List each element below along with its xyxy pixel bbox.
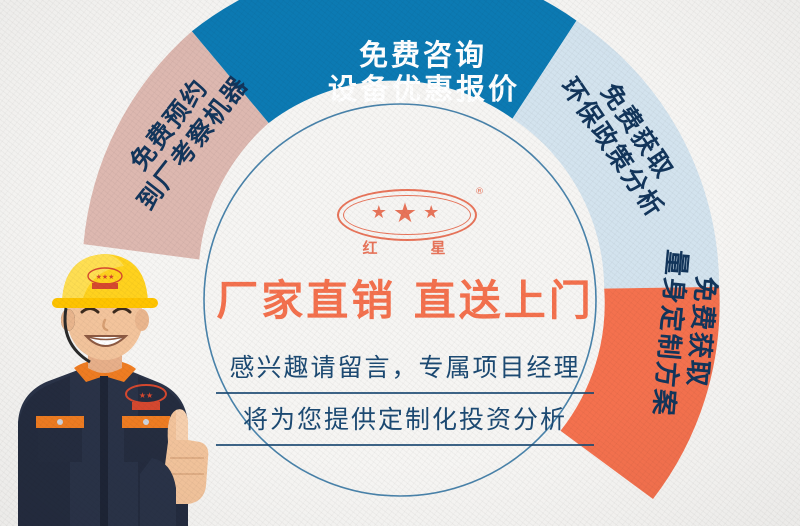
subline-2: 将为您提供定制化投资分析 — [180, 394, 630, 444]
smiling-worker-thumbs-up-icon: ★★ ★★★ — [0, 226, 215, 526]
star-icon: ★ — [393, 200, 417, 227]
svg-text:★★: ★★ — [139, 391, 153, 400]
divider-1 — [216, 392, 594, 394]
arc-label-free-consult: 免费咨询 设备优惠报价 — [328, 38, 518, 106]
logo-brand-name: 红 星 — [337, 237, 473, 258]
logo-brand-char: 星 — [430, 237, 447, 258]
star-icon: ★ — [371, 204, 387, 222]
star-icon: ★ — [423, 204, 439, 222]
arc-label-line: 设备优惠报价 — [328, 72, 518, 106]
divider-2 — [216, 444, 594, 446]
headline: 厂家直销 直送上门 — [180, 267, 630, 328]
center-content: ★ ★ ★ ® 红 星 厂家直销 直送上门 感兴趣请留言，专属项目经理 将为您提… — [180, 185, 630, 446]
banner-canvas: 免费预约 到厂考察机器 免费咨询 设备优惠报价 免费获取 环保政策分析 免费获取… — [0, 0, 800, 526]
worker-photo: ★★ ★★★ — [0, 226, 215, 526]
svg-text:★★★: ★★★ — [96, 273, 115, 281]
subline-1: 感兴趣请留言，专属项目经理 — [180, 342, 630, 392]
arc-label-line: 免费咨询 — [328, 38, 518, 72]
registered-trademark-icon: ® — [475, 187, 484, 197]
logo-stars: ★ ★ ★ — [337, 189, 473, 237]
brand-logo: ★ ★ ★ ® 红 星 — [325, 185, 485, 261]
logo-brand-char: 红 — [362, 237, 379, 258]
